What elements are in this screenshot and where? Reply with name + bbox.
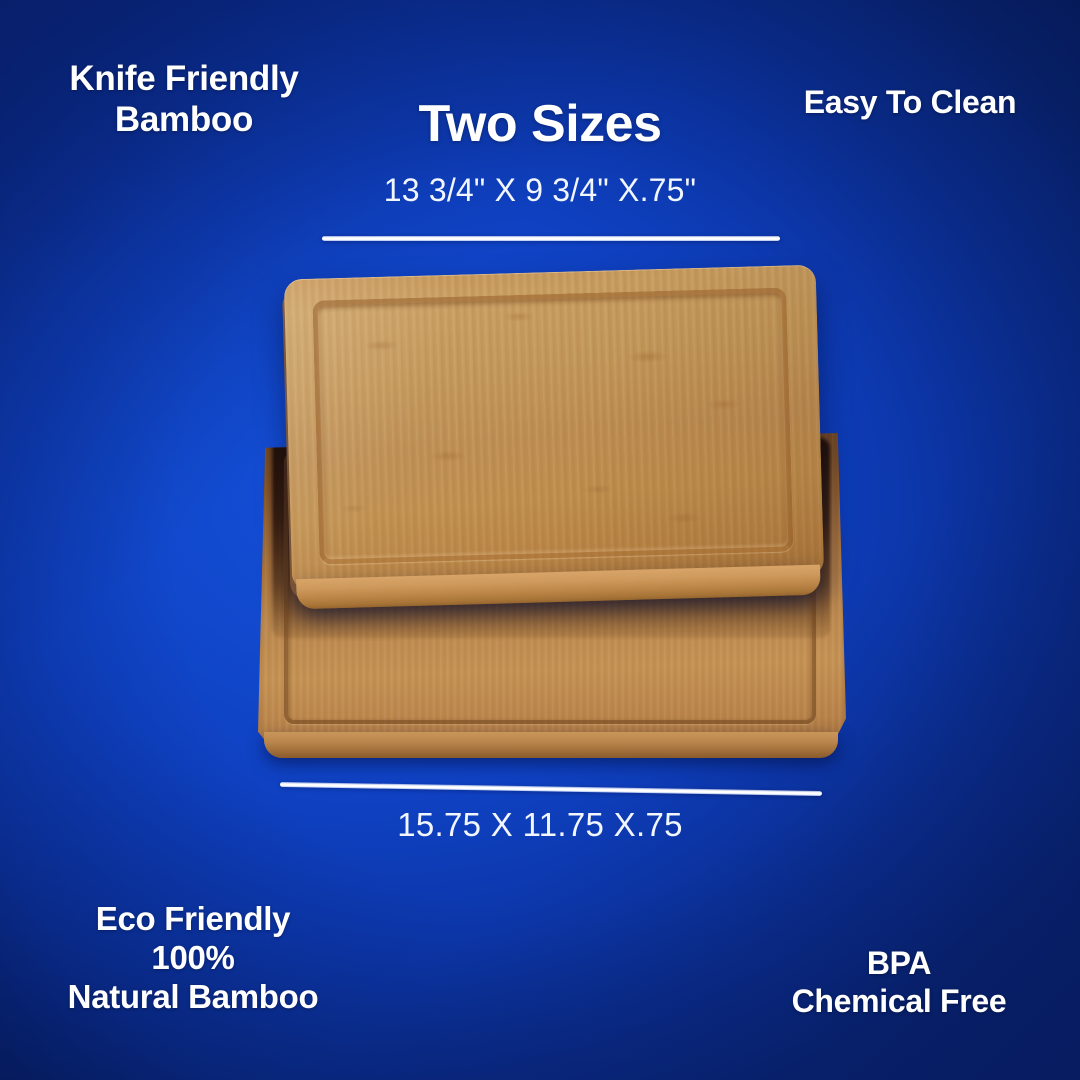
feature-knife-friendly-line2: Bamboo	[34, 99, 334, 140]
feature-eco-friendly-line1: Eco Friendly	[28, 900, 358, 939]
feature-eco-friendly-line3: Natural Bamboo	[28, 978, 358, 1017]
feature-bpa-chemical-free: BPA Chemical Free	[754, 945, 1044, 1021]
feature-eco-friendly-line2: 100%	[28, 939, 358, 978]
feature-easy-to-clean: Easy To Clean	[780, 84, 1040, 122]
feature-bpa-line1: BPA	[754, 945, 1044, 983]
large-board-dimension-label: 15.75 X 11.75 X.75	[0, 806, 1080, 844]
feature-eco-friendly: Eco Friendly 100% Natural Bamboo	[28, 900, 358, 1017]
product-feature-image: Two Sizes 13 3/4" X 9 3/4" X.75" 15.75 X…	[0, 0, 1080, 1080]
feature-knife-friendly-line1: Knife Friendly	[34, 58, 334, 99]
feature-knife-friendly: Knife Friendly Bamboo	[34, 58, 334, 141]
feature-bpa-line2: Chemical Free	[754, 983, 1044, 1021]
feature-easy-to-clean-line1: Easy To Clean	[780, 84, 1040, 122]
top-dimension-rule	[322, 236, 780, 241]
